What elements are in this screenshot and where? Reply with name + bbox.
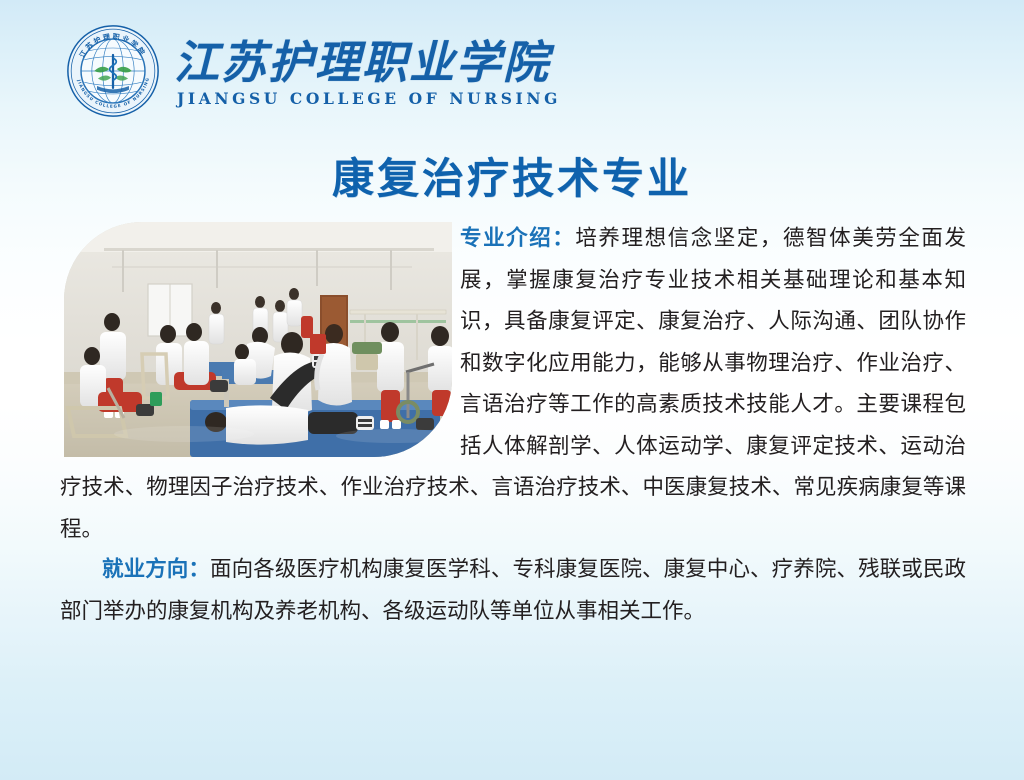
photo-text-wrap-spacer bbox=[60, 218, 460, 461]
college-seal-icon: 江苏护理职业学院 JIANGSU COLLEGE OF NURSING bbox=[66, 24, 160, 118]
wordmark: 江苏护理职业学院 JIANGSU COLLEGE OF NURSING bbox=[174, 35, 561, 106]
college-name-en: JIANGSU COLLEGE OF NURSING bbox=[177, 90, 561, 107]
intro-label: 专业介绍： bbox=[460, 226, 575, 251]
page-title: 康复治疗技术专业 bbox=[0, 145, 1024, 206]
poster-page: 江苏护理职业学院 JIANGSU COLLEGE OF NURSING 江苏护理… bbox=[0, 0, 1024, 780]
major-introduction-paragraph: 专业介绍：培养理想信念坚定，德智体美劳全面发展，掌握康复治疗专业技术相关基础理论… bbox=[60, 218, 966, 550]
brand-header: 江苏护理职业学院 JIANGSU COLLEGE OF NURSING 江苏护理… bbox=[66, 24, 561, 118]
employment-label: 就业方向： bbox=[102, 557, 210, 582]
college-name-cn: 江苏护理职业学院 bbox=[174, 39, 561, 86]
employment-direction-paragraph: 就业方向：面向各级医疗机构康复医学科、专科康复医院、康复中心、疗养院、残联或民政… bbox=[60, 549, 966, 632]
